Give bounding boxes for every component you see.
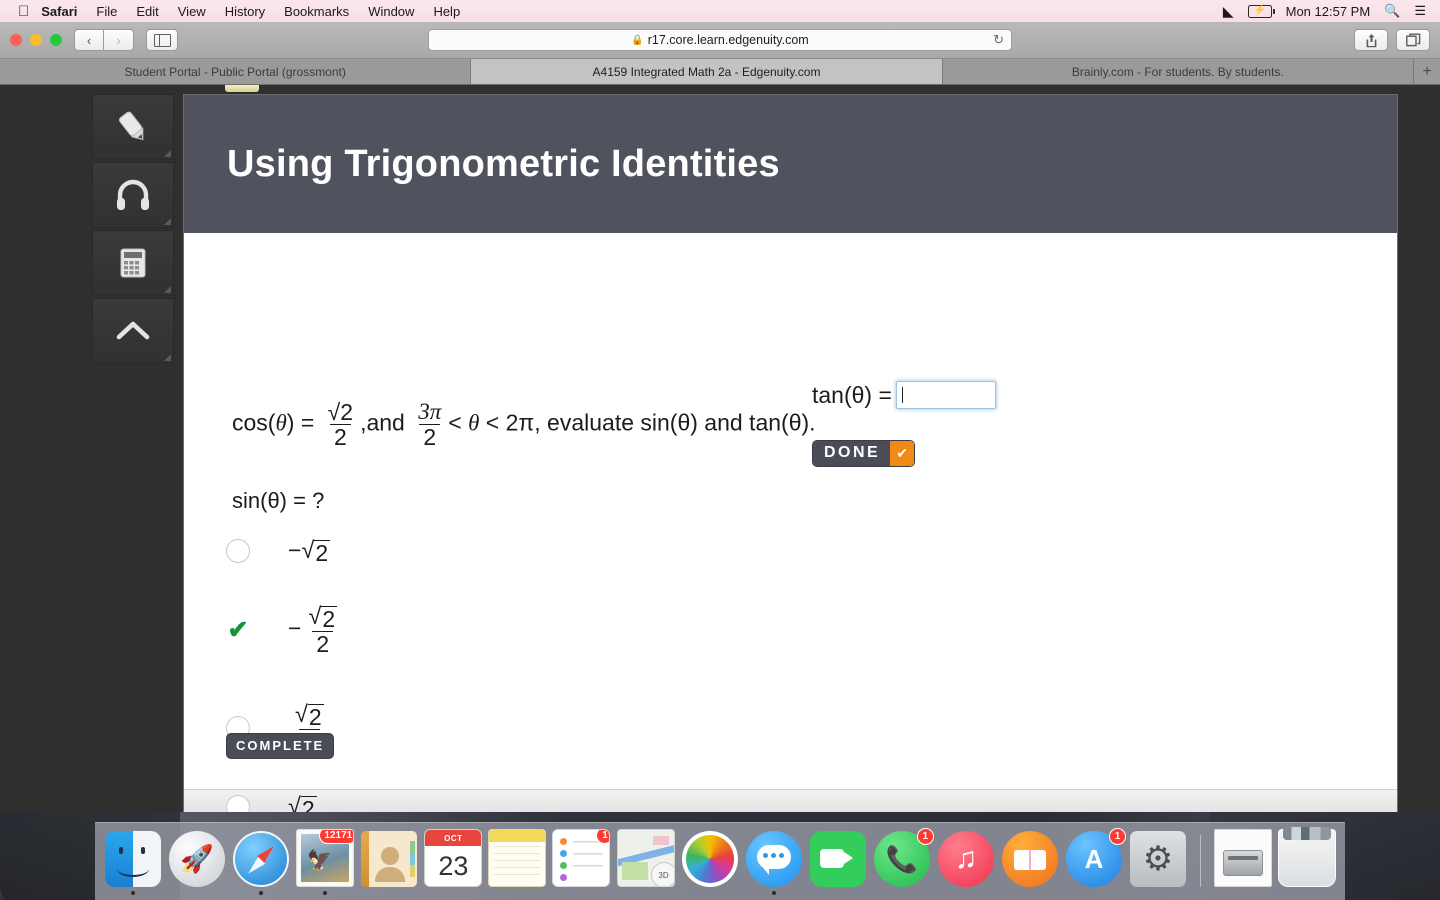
problem-fraction-range-den: 2: [419, 424, 440, 449]
problem-theta-1: θ: [275, 411, 286, 436]
choice-2-num: √2: [304, 604, 341, 631]
problem-fraction-cos-num: √2: [324, 400, 357, 424]
dock-item-facetime[interactable]: [806, 823, 870, 895]
menu-item-history[interactable]: History: [225, 4, 265, 19]
dock-item-phone[interactable]: 📞 1: [870, 823, 934, 895]
back-button[interactable]: ‹: [74, 29, 104, 51]
dock-item-calendar[interactable]: OCT 23: [421, 823, 485, 895]
lesson-header: Using Trigonometric Identities: [184, 95, 1397, 233]
pencil-icon: [112, 106, 154, 148]
correct-check-icon: ✔: [226, 618, 250, 642]
calculator-tool-button[interactable]: [92, 230, 174, 296]
safari-icon: [233, 831, 289, 887]
lesson-card: Using Trigonometric Identities cos(θ) = …: [183, 94, 1398, 812]
menu-item-window[interactable]: Window: [368, 4, 414, 19]
dock-item-itunes[interactable]: ♫: [934, 823, 998, 895]
answer-choice-4[interactable]: √2: [226, 784, 344, 812]
itunes-icon: ♫: [938, 831, 994, 887]
problem-tail: evaluate sin(θ) and tan(θ).: [547, 410, 816, 436]
complete-badge: COMPLETE: [226, 733, 334, 759]
dock-item-maps[interactable]: 3D: [614, 823, 678, 895]
tab-brainly[interactable]: Brainly.com - For students. By students.: [943, 59, 1414, 84]
question-label: sin(θ) = ?: [232, 488, 324, 514]
ibooks-icon: [1002, 831, 1058, 887]
wifi-icon[interactable]: ◣: [1223, 4, 1234, 18]
done-check-icon: ✔: [890, 441, 914, 466]
menu-item-safari[interactable]: Safari: [41, 4, 77, 19]
documents-stack-icon: [1214, 829, 1272, 887]
tab-bar: Student Portal - Public Portal (grossmon…: [0, 59, 1440, 85]
mail-badge: 12171: [319, 829, 354, 844]
safari-window: ‹ › 🔒 r17.core.learn.edgenuity.com ↻: [0, 22, 1440, 812]
text-caret: [902, 387, 903, 403]
tab-integrated-math[interactable]: A4159 Integrated Math 2a - Edgenuity.com: [471, 59, 942, 84]
radio-button-4[interactable]: [226, 795, 250, 812]
tan-input[interactable]: [896, 381, 996, 409]
problem-fraction-cos-den: 2: [330, 424, 351, 449]
dock-item-finder[interactable]: [101, 823, 165, 895]
sidebar-icon: [154, 34, 171, 47]
running-indicator: [772, 891, 776, 895]
close-window-button[interactable]: [10, 34, 22, 46]
page-marker-tab: [225, 85, 259, 92]
notes-icon: [488, 829, 546, 887]
problem-and: ,and: [360, 410, 405, 436]
lesson-body: cos(θ) = √2 2 ,and 3π 2 < θ < 2π, evalua…: [184, 233, 1397, 789]
battery-charging-icon[interactable]: ⚡: [1248, 5, 1272, 18]
tabs-overview-button[interactable]: [1396, 29, 1430, 51]
window-controls: [10, 34, 62, 46]
dock-separator: [1200, 835, 1201, 887]
share-icon: [1365, 33, 1378, 48]
choice-4-radicand: 2: [301, 796, 317, 812]
phone-icon: 📞 1: [874, 831, 930, 887]
notification-center-icon[interactable]: ☰: [1414, 3, 1426, 19]
facetime-icon: [810, 831, 866, 887]
answer-choice-2-value: − √2 2: [288, 604, 344, 656]
dock-item-launchpad[interactable]: 🚀: [165, 823, 229, 895]
radio-button-1[interactable]: [226, 539, 250, 563]
choice-1-sign: −: [288, 537, 301, 563]
done-button[interactable]: DONE ✔: [812, 440, 915, 467]
calendar-month: OCT: [425, 830, 481, 846]
dock-item-photos[interactable]: [678, 823, 742, 895]
calendar-day: 23: [425, 846, 481, 886]
menu-item-help[interactable]: Help: [433, 4, 460, 19]
browser-toolbar: ‹ › 🔒 r17.core.learn.edgenuity.com ↻: [0, 22, 1440, 59]
menu-bar:  Safari File Edit View History Bookmark…: [0, 0, 1440, 22]
running-indicator: [259, 891, 263, 895]
problem-lt-1: <: [448, 410, 461, 436]
answer-choice-list: −√2 ✔ − √2 2: [226, 528, 344, 812]
menu-item-edit[interactable]: Edit: [136, 4, 158, 19]
gear-icon: ⚙: [1130, 831, 1186, 887]
calendar-icon: OCT 23: [424, 829, 482, 887]
mail-icon: 🦅 12171: [296, 829, 354, 887]
tab-student-portal[interactable]: Student Portal - Public Portal (grossmon…: [0, 59, 471, 84]
sidebar-button[interactable]: [146, 29, 178, 51]
menu-item-file[interactable]: File: [96, 4, 117, 19]
problem-fraction-range: 3π 2: [414, 400, 445, 449]
headphones-icon: [112, 174, 154, 216]
done-button-label: DONE: [813, 441, 890, 466]
menu-item-bookmarks[interactable]: Bookmarks: [284, 4, 349, 19]
address-bar-url: r17.core.learn.edgenuity.com: [648, 33, 809, 47]
tan-answer-row: tan(θ) =: [812, 381, 996, 409]
dock-item-messages[interactable]: [742, 823, 806, 895]
dock-item-ibooks[interactable]: [998, 823, 1062, 895]
phone-badge: 1: [917, 828, 934, 845]
lock-icon: 🔒: [631, 35, 643, 46]
menu-bar-clock[interactable]: Mon 12:57 PM: [1286, 4, 1371, 19]
forward-button[interactable]: ›: [104, 29, 134, 51]
dock-item-documents[interactable]: [1211, 823, 1275, 895]
search-icon[interactable]: 🔍: [1384, 3, 1400, 19]
dock-item-safari[interactable]: [229, 823, 293, 895]
photos-icon: [682, 831, 738, 887]
appstore-badge: 1: [1109, 828, 1126, 845]
messages-icon: [746, 831, 802, 887]
apple-logo-icon[interactable]: : [18, 4, 29, 19]
answer-choice-2[interactable]: ✔ − √2 2: [226, 588, 344, 672]
choice-1-radicand: 2: [314, 540, 330, 565]
maps-compass-label: 3D: [651, 862, 675, 887]
minimize-window-button[interactable]: [30, 34, 42, 46]
lesson-footer: [184, 789, 1397, 812]
finder-icon: [105, 831, 161, 887]
tabs-overview-icon: [1406, 33, 1421, 47]
appstore-icon: A 1: [1066, 831, 1122, 887]
calculator-icon: [112, 242, 154, 284]
dock-item-trash[interactable]: [1275, 823, 1339, 895]
dock-item-mail[interactable]: 🦅 12171: [293, 823, 357, 895]
menu-item-view[interactable]: View: [178, 4, 206, 19]
reload-icon[interactable]: ↻: [993, 32, 1004, 48]
problem-theta-2: θ: [468, 411, 479, 436]
collapse-tool-button[interactable]: [92, 298, 174, 364]
problem-cos-label: cos(: [232, 410, 275, 436]
answer-choice-1-value: −√2: [288, 537, 330, 565]
answer-choice-4-value: √2: [288, 793, 317, 812]
answer-choice-1[interactable]: −√2: [226, 528, 344, 574]
problem-equals: ) =: [287, 410, 314, 436]
highlighter-tool-button[interactable]: [92, 94, 174, 160]
choice-2-fraction: √2 2: [304, 604, 341, 656]
dock-item-notes[interactable]: [485, 823, 549, 895]
problem-fraction-cos: √2 2: [324, 400, 357, 449]
chevron-up-icon: [112, 310, 154, 352]
dock-item-appstore[interactable]: A 1: [1062, 823, 1126, 895]
running-indicator: [131, 891, 135, 895]
dock-item-reminders[interactable]: 1: [549, 823, 613, 895]
lesson-tool-rail: [92, 94, 174, 364]
dock-item-system-preferences[interactable]: ⚙: [1126, 823, 1190, 895]
contacts-icon: [361, 831, 417, 887]
problem-lt-2: < 2π,: [486, 410, 541, 436]
choice-3-num: √2: [291, 702, 328, 729]
reminders-icon: 1: [552, 829, 610, 887]
problem-statement: cos(θ) = √2 2 ,and 3π 2 < θ < 2π, evalua…: [232, 400, 816, 449]
share-button[interactable]: [1354, 29, 1388, 51]
launchpad-icon: 🚀: [169, 831, 225, 887]
maximize-window-button[interactable]: [50, 34, 62, 46]
running-indicator: [323, 891, 327, 895]
new-tab-button[interactable]: +: [1414, 59, 1440, 84]
dock-item-contacts[interactable]: [357, 823, 421, 895]
choice-2-sign: −: [288, 615, 301, 641]
problem-fraction-range-num: 3π: [414, 400, 445, 424]
reminders-badge: 1: [596, 829, 610, 844]
tan-label: tan(θ) =: [812, 382, 892, 409]
dock: 🚀 🦅 12171 OCT 23: [95, 822, 1345, 900]
page-content: Using Trigonometric Identities cos(θ) = …: [0, 85, 1440, 812]
trash-icon: [1278, 829, 1336, 887]
audio-tool-button[interactable]: [92, 162, 174, 228]
page-title: Using Trigonometric Identities: [227, 143, 780, 186]
choice-2-den: 2: [312, 631, 333, 656]
maps-icon: 3D: [617, 829, 675, 887]
address-bar[interactable]: 🔒 r17.core.learn.edgenuity.com ↻: [428, 29, 1012, 51]
